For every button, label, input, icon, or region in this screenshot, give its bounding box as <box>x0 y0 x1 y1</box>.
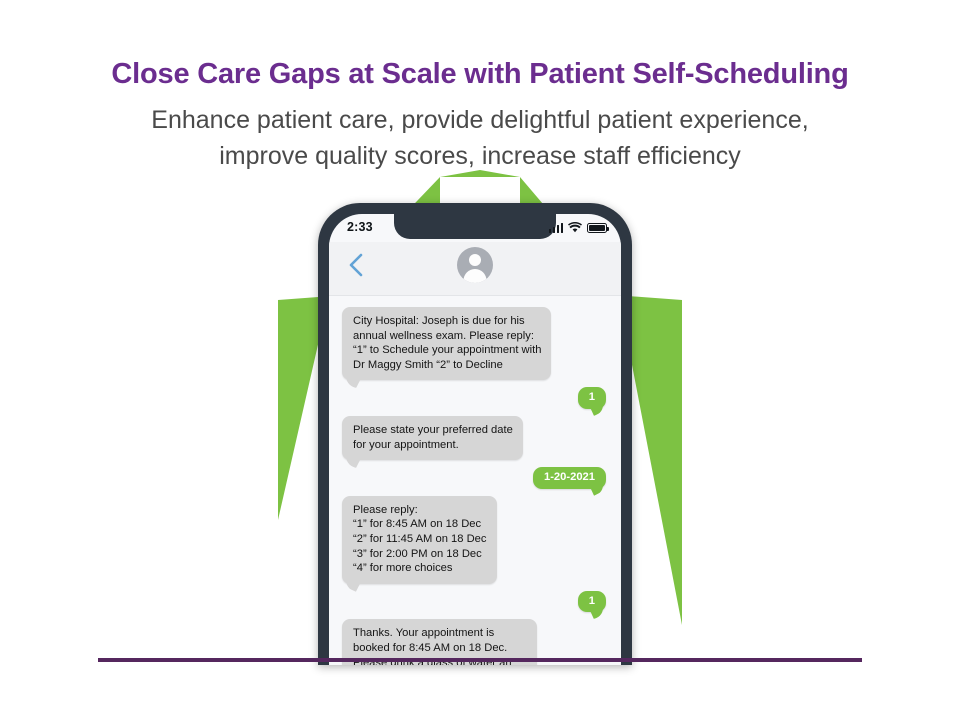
incoming-message-bubble[interactable]: City Hospital: Joseph is due for his ann… <box>342 307 551 380</box>
incoming-message-bubble[interactable]: Please state your preferred date for you… <box>342 416 523 460</box>
page-title: Close Care Gaps at Scale with Patient Se… <box>0 58 960 91</box>
purple-divider-rule <box>98 658 862 662</box>
message-row: 1 <box>342 591 608 613</box>
avatar-icon[interactable] <box>457 247 493 283</box>
message-row: Please reply: “1” for 8:45 AM on 18 Dec … <box>342 496 608 584</box>
conversation-header <box>329 242 621 296</box>
message-row: City Hospital: Joseph is due for his ann… <box>342 307 608 380</box>
message-thread: City Hospital: Joseph is due for his ann… <box>329 296 621 665</box>
battery-icon <box>587 223 607 233</box>
avatar-body <box>464 269 487 283</box>
incoming-message-bubble[interactable]: Please reply: “1” for 8:45 AM on 18 Dec … <box>342 496 497 584</box>
outgoing-message-bubble[interactable]: 1-20-2021 <box>533 467 606 489</box>
slide-canvas: Close Care Gaps at Scale with Patient Se… <box>0 0 960 720</box>
outgoing-message-bubble[interactable]: 1 <box>578 387 606 409</box>
page-subtitle: Enhance patient care, provide delightful… <box>130 102 830 174</box>
status-icon-group <box>549 221 608 233</box>
subtitle-line-2: improve quality scores, increase staff e… <box>130 138 830 174</box>
signal-bars-icon <box>549 223 564 233</box>
back-chevron-icon[interactable] <box>347 252 367 278</box>
phone-screen: 2:33 <box>329 214 621 665</box>
phone-mockup: 2:33 <box>318 203 632 665</box>
message-row: 1-20-2021 <box>342 467 608 489</box>
wifi-icon <box>568 222 582 233</box>
avatar-head <box>469 254 481 266</box>
message-row: Please state your preferred date for you… <box>342 416 608 460</box>
green-apex <box>440 170 520 177</box>
subtitle-line-1: Enhance patient care, provide delightful… <box>130 102 830 138</box>
message-row: 1 <box>342 387 608 409</box>
status-bar: 2:33 <box>329 214 621 242</box>
outgoing-message-bubble[interactable]: 1 <box>578 591 606 613</box>
status-clock: 2:33 <box>347 220 373 234</box>
